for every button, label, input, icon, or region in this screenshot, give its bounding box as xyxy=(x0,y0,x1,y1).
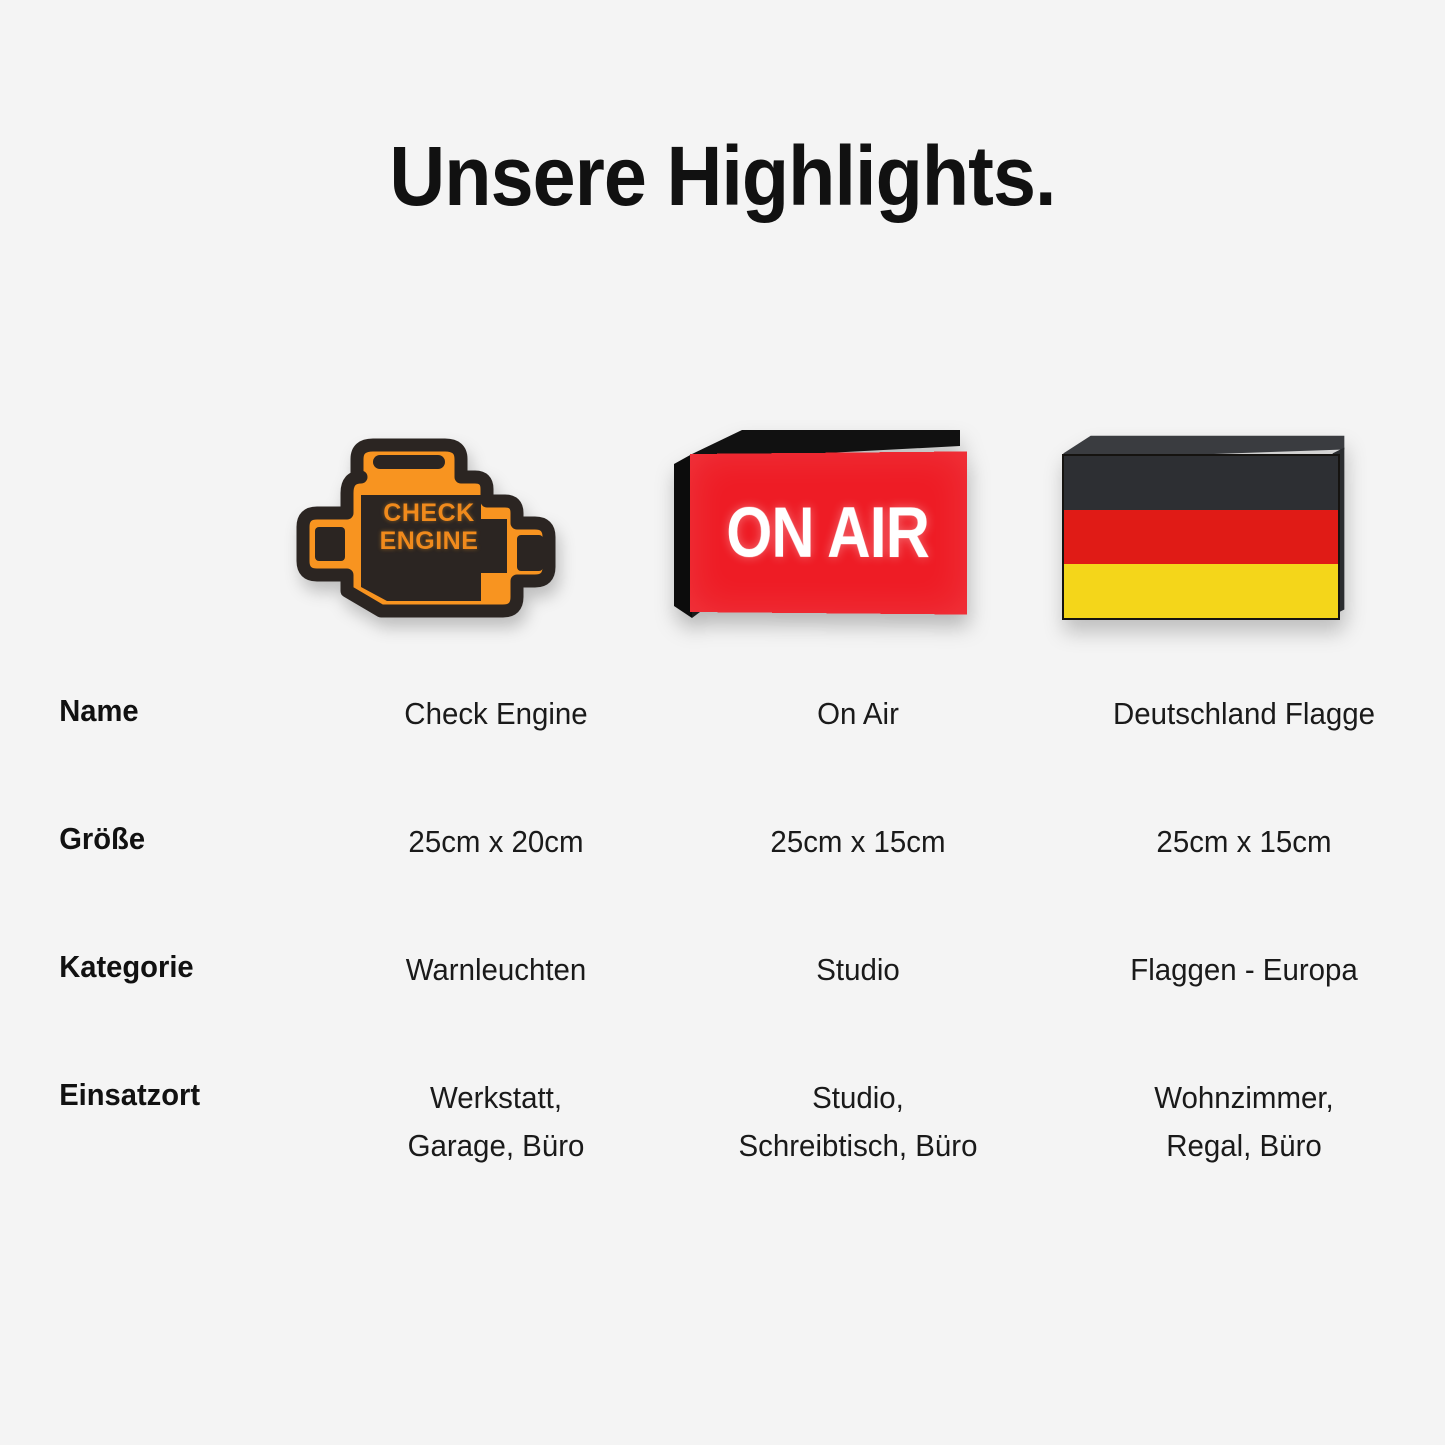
row-label-einsatzort: Einsatzort xyxy=(0,1074,301,1116)
product-image-deutschland-flagge[interactable] xyxy=(1026,395,1374,665)
cell-name-on-air: On Air xyxy=(681,690,1034,738)
spec-comparison-table: Name Check Engine On Air Deutschland Fla… xyxy=(0,690,1445,1224)
cell-einsatzort-check-engine: Werkstatt, Garage, Büro xyxy=(329,1074,663,1170)
product-image-on-air[interactable]: ON AIR xyxy=(638,395,986,665)
on-air-face: ON AIR xyxy=(690,451,967,614)
on-air-label: ON AIR xyxy=(726,492,929,575)
spacer xyxy=(598,395,638,665)
cell-einsatzort-on-air: Studio, Schreibtisch, Büro xyxy=(681,1074,1034,1170)
cell-groesse-on-air: 25cm x 15cm xyxy=(681,818,1034,866)
table-row: Größe 25cm x 20cm 25cm x 15cm 25cm x 15c… xyxy=(0,818,1445,946)
check-engine-label: CHECK ENGINE xyxy=(361,499,497,555)
flag-band-red xyxy=(1064,510,1338,564)
cell-kategorie-deutschland-flagge: Flaggen - Europa xyxy=(1054,946,1434,994)
cell-name-deutschland-flagge: Deutschland Flagge xyxy=(1054,690,1434,738)
cell-groesse-deutschland-flagge: 25cm x 15cm xyxy=(1054,818,1434,866)
table-row: Name Check Engine On Air Deutschland Fla… xyxy=(0,690,1445,818)
row-label-groesse: Größe xyxy=(0,818,301,860)
table-row: Einsatzort Werkstatt, Garage, Büro Studi… xyxy=(0,1074,1445,1224)
flag-band-black xyxy=(1064,456,1338,510)
check-engine-lamp: CHECK ENGINE xyxy=(269,415,579,645)
cell-name-check-engine: Check Engine xyxy=(329,690,663,738)
table-row: Kategorie Warnleuchten Studio Flaggen - … xyxy=(0,946,1445,1074)
cell-einsatzort-deutschland-flagge: Wohnzimmer, Regal, Büro xyxy=(1054,1074,1434,1170)
cell-groesse-check-engine: 25cm x 20cm xyxy=(329,818,663,866)
on-air-light-box: ON AIR xyxy=(664,430,960,630)
german-flag-face xyxy=(1062,454,1340,620)
german-flag-light-box xyxy=(1050,428,1350,633)
cell-kategorie-check-engine: Warnleuchten xyxy=(329,946,663,994)
product-image-row: CHECK ENGINE ON AIR xyxy=(250,395,1445,665)
flag-band-yellow xyxy=(1064,564,1338,618)
product-highlights-page: Unsere Highlights. xyxy=(0,0,1445,1445)
product-image-check-engine[interactable]: CHECK ENGINE xyxy=(250,395,598,665)
spacer xyxy=(986,395,1026,665)
cell-kategorie-on-air: Studio xyxy=(681,946,1034,994)
row-label-kategorie: Kategorie xyxy=(0,946,301,988)
page-title: Unsere Highlights. xyxy=(58,128,1387,225)
row-label-name: Name xyxy=(0,690,301,732)
